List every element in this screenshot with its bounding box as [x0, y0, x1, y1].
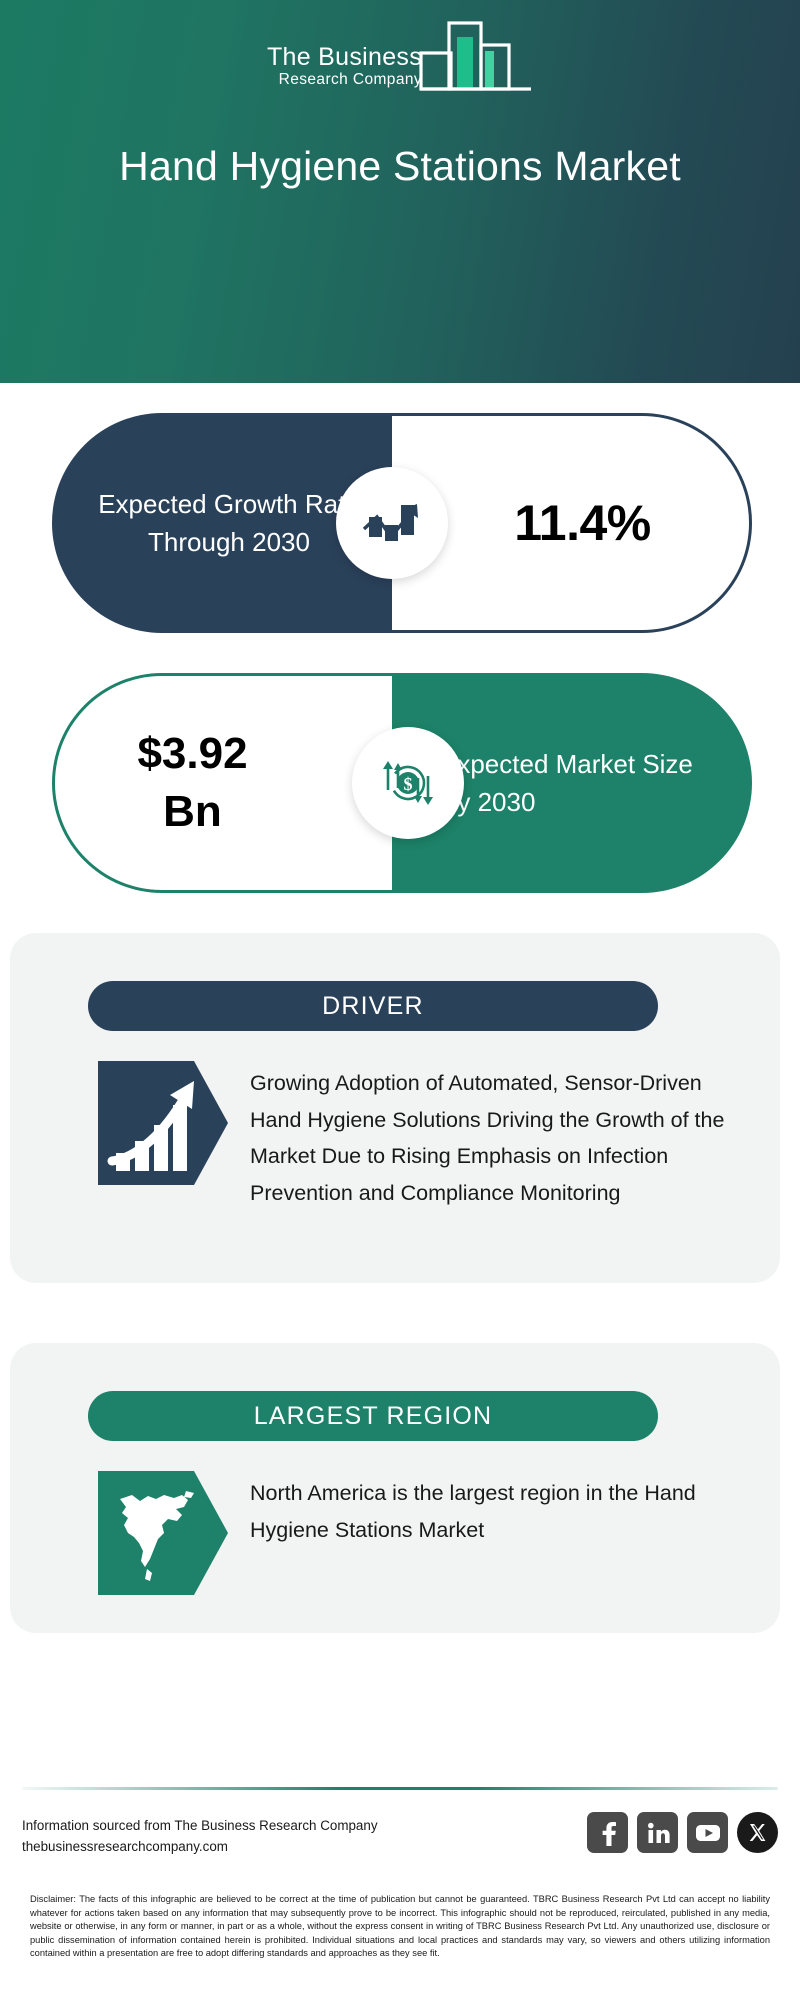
- driver-pill: DRIVER: [88, 981, 658, 1031]
- north-america-map-icon: [98, 1471, 228, 1595]
- source-line-1: Information sourced from The Business Re…: [22, 1815, 378, 1836]
- social-links: [587, 1812, 778, 1853]
- dollar-circular-arrows-icon: $: [352, 727, 464, 839]
- footer: Information sourced from The Business Re…: [0, 1812, 800, 1878]
- largest-region-panel: LARGEST REGION North America is the larg…: [10, 1343, 780, 1633]
- company-logo: The Business Research Company: [267, 22, 533, 98]
- youtube-icon[interactable]: [687, 1812, 728, 1853]
- stat-market-value-line1: $3.92: [137, 729, 247, 778]
- page-title: Hand Hygiene Stations Market: [80, 140, 720, 192]
- logo-line-2: Research Company: [279, 71, 422, 89]
- bar-chart-logo-mark: [419, 17, 533, 98]
- largest-region-pill: LARGEST REGION: [88, 1391, 658, 1441]
- stat-market-value: $3.92 Bn: [137, 725, 309, 841]
- driver-panel: DRIVER Growing Adoption of Automated, Se…: [10, 933, 780, 1283]
- stat-growth-value: 11.4%: [514, 494, 651, 552]
- largest-region-pill-label: LARGEST REGION: [254, 1402, 493, 1431]
- svg-text:$: $: [404, 774, 413, 794]
- largest-region-text: North America is the largest region in t…: [250, 1471, 748, 1548]
- stat-card-market-size: $3.92 Bn Expected Market Size By 2030 $: [52, 673, 752, 893]
- logo-line-1: The Business: [267, 44, 422, 71]
- largest-region-body: North America is the largest region in t…: [98, 1471, 748, 1595]
- disclaimer-text: Disclaimer: The facts of this infographi…: [30, 1893, 770, 1961]
- header-banner: The Business Research Company Hand Hygie…: [0, 0, 800, 383]
- growth-chart-arrow-icon: [336, 467, 448, 579]
- driver-body: Growing Adoption of Automated, Sensor-Dr…: [98, 1061, 748, 1211]
- source-line-2[interactable]: thebusinessresearchcompany.com: [22, 1836, 378, 1857]
- x-twitter-icon[interactable]: [737, 1812, 778, 1853]
- driver-text: Growing Adoption of Automated, Sensor-Dr…: [250, 1061, 748, 1211]
- linkedin-icon[interactable]: [637, 1812, 678, 1853]
- stat-market-value-line2: Bn: [163, 787, 222, 836]
- source-attribution: Information sourced from The Business Re…: [22, 1812, 378, 1857]
- driver-pill-label: DRIVER: [322, 992, 424, 1021]
- stat-card-growth-rate: Expected Growth Rate Through 2030 11.4%: [52, 413, 752, 633]
- facebook-icon[interactable]: [587, 1812, 628, 1853]
- stat-market-value-panel: $3.92 Bn: [52, 673, 392, 893]
- rising-bar-chart-arrow-icon: [98, 1061, 228, 1185]
- footer-divider: [22, 1787, 778, 1790]
- logo-wordmark: The Business Research Company: [267, 44, 422, 98]
- infographic-page: The Business Research Company Hand Hygie…: [0, 0, 800, 2000]
